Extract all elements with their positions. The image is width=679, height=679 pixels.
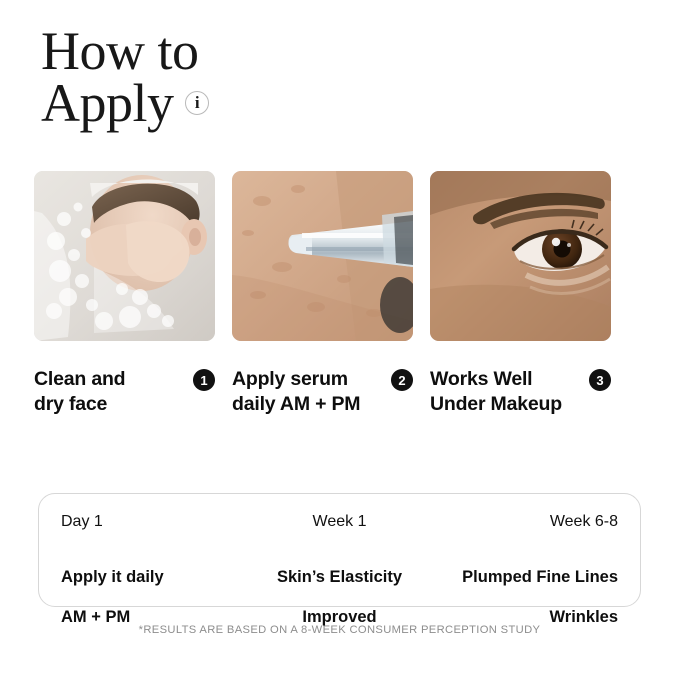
step-2-caption-line-1: Apply serum	[232, 368, 348, 390]
timeline-body-2-line-1: Skin’s Elasticity	[277, 568, 402, 586]
step-photo-cleanse	[34, 171, 215, 341]
step-1-caption-line-1: Clean and	[34, 368, 125, 390]
step-2-badge: 2	[391, 369, 413, 391]
timeline-heading-2: Week 1	[247, 512, 433, 532]
step-2-caption-line-2: daily AM + PM	[232, 393, 360, 415]
step-2: Apply serum daily AM + PM 2	[232, 171, 413, 417]
footnote: *RESULTS ARE BASED ON A 8-WEEK CONSUMER …	[0, 624, 679, 636]
step-photo-eye	[430, 171, 611, 341]
page-title-line-2: Apply	[41, 73, 174, 133]
timeline-heading-1: Day 1	[61, 512, 247, 532]
step-1-badge: 1	[193, 369, 215, 391]
step-1-caption: Clean and dry face 1	[34, 367, 215, 417]
timeline-box: Day 1 Apply it daily AM + PM Week 1 Skin…	[38, 493, 641, 607]
step-1: Clean and dry face 1	[34, 171, 215, 417]
step-2-caption: Apply serum daily AM + PM 2	[232, 367, 413, 417]
step-3-caption: Works Well Under Makeup 3	[430, 367, 611, 417]
cleanse-illustration	[34, 171, 215, 341]
page-title-line-1: How to	[41, 25, 361, 77]
timeline-heading-3: Week 6-8	[432, 512, 618, 532]
step-3-caption-line-1: Works Well	[430, 368, 532, 390]
step-1-caption-text: Clean and dry face	[34, 367, 125, 417]
step-2-caption-text: Apply serum daily AM + PM	[232, 367, 360, 417]
page-title: How to Apply i	[41, 25, 361, 129]
timeline-column-2: Week 1 Skin’s Elasticity Improved	[247, 512, 433, 588]
timeline-body-3: Plumped Fine Lines Wrinkles	[432, 547, 618, 627]
info-icon-label: i	[195, 94, 199, 111]
step-3-badge: 3	[589, 369, 611, 391]
eye-illustration	[430, 171, 611, 341]
step-photo-serum	[232, 171, 413, 341]
timeline-column-1: Day 1 Apply it daily AM + PM	[61, 512, 247, 588]
timeline-body-2: Skin’s Elasticity Improved	[247, 547, 433, 627]
step-3-caption-line-2: Under Makeup	[430, 393, 562, 415]
serum-illustration	[232, 171, 413, 341]
timeline-body-3-line-1: Plumped Fine Lines	[462, 568, 618, 586]
page-title-line-2-wrap: Apply i	[41, 77, 174, 129]
step-3-caption-text: Works Well Under Makeup	[430, 367, 562, 417]
step-3: Works Well Under Makeup 3	[430, 171, 611, 417]
timeline-column-3: Week 6-8 Plumped Fine Lines Wrinkles	[432, 512, 618, 588]
timeline-body-1-line-1: Apply it daily	[61, 568, 164, 586]
info-icon[interactable]: i	[185, 91, 209, 115]
step-1-caption-line-2: dry face	[34, 393, 107, 415]
timeline-body-1: Apply it daily AM + PM	[61, 547, 247, 627]
steps-row: Clean and dry face 1	[34, 171, 645, 417]
